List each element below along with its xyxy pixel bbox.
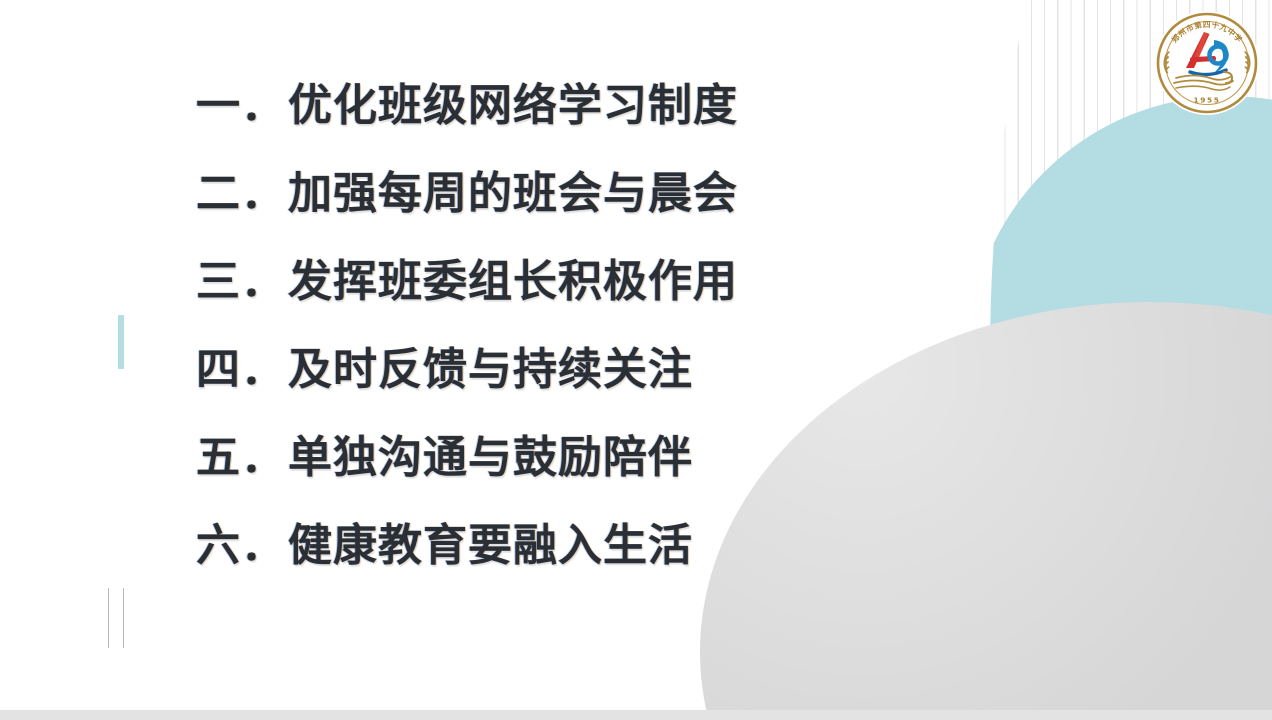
list-item: 二． 加强每周的班会与晨会 xyxy=(196,172,836,260)
list-item-text: 单独沟通与鼓励陪伴 xyxy=(288,436,693,480)
svg-text:1955: 1955 xyxy=(1194,96,1221,105)
list-item-text: 及时反馈与持续关注 xyxy=(288,348,693,392)
list-item-text: 优化班级网络学习制度 xyxy=(288,84,738,128)
bottom-strip xyxy=(0,710,1272,720)
list-item-text: 健康教育要融入生活 xyxy=(288,524,693,568)
teal-accent-bar xyxy=(118,315,124,369)
school-logo-icon: 郑州市第四十九中学 1955 xyxy=(1152,8,1262,118)
list-item: 四． 及时反馈与持续关注 xyxy=(196,348,836,436)
list-item-number: 一． xyxy=(196,84,282,128)
list-item: 六． 健康教育要融入生活 xyxy=(196,524,836,612)
list-item-number: 三． xyxy=(196,260,282,304)
list-item-number: 六． xyxy=(196,524,282,568)
list-item: 五． 单独沟通与鼓励陪伴 xyxy=(196,436,836,524)
list-item-number: 五． xyxy=(196,436,282,480)
list-item-text: 加强每周的班会与晨会 xyxy=(288,172,738,216)
thin-rule-right xyxy=(123,588,124,648)
list-item-number: 二． xyxy=(196,172,282,216)
list-item: 三． 发挥班委组长积极作用 xyxy=(196,260,836,348)
list-item-text: 发挥班委组长积极作用 xyxy=(288,260,738,304)
list-item-number: 四． xyxy=(196,348,282,392)
slide-canvas: 一． 优化班级网络学习制度 二． 加强每周的班会与晨会 三． 发挥班委组长积极作… xyxy=(0,0,1272,720)
agenda-list: 一． 优化班级网络学习制度 二． 加强每周的班会与晨会 三． 发挥班委组长积极作… xyxy=(196,84,836,612)
list-item: 一． 优化班级网络学习制度 xyxy=(196,84,836,172)
thin-rule-left xyxy=(108,588,109,648)
